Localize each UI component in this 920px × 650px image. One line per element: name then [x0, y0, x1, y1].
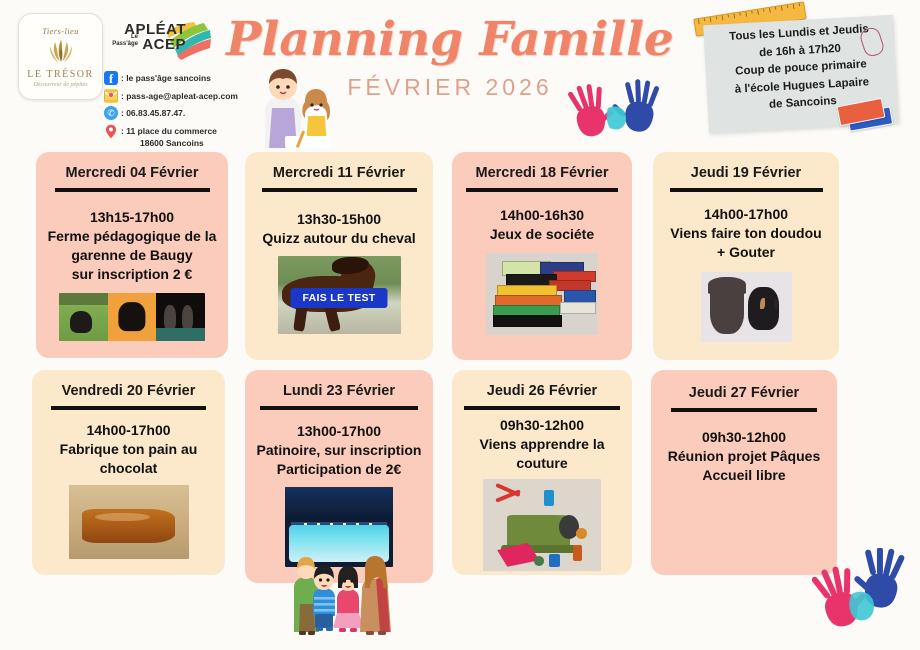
card-time: 13h30-15h00 [297, 211, 381, 227]
card-body: 13h15-17h00 Ferme pédagogique de la gare… [36, 208, 228, 284]
card-divider [466, 188, 618, 192]
card-divider [671, 408, 817, 412]
le-passage-wordmark: Le Pass'âge [102, 34, 138, 47]
contact-row-phone[interactable]: ✆ : 06.83.45.87.47. [104, 105, 238, 121]
contact-email-text: : pass-age@apleat-acep.com [121, 91, 238, 101]
apleat-acep-logo: APLÉAT ACEP Le Pass'âge [108, 8, 208, 66]
card-title: Mercredi 04 Février [36, 152, 228, 182]
card-time: 09h30-12h00 [500, 417, 584, 433]
card-time: 09h30-12h00 [702, 429, 786, 445]
card-description: Ferme pédagogique de la garenne de Baugy… [48, 228, 217, 282]
card-description: Jeux de sociéte [490, 226, 594, 242]
card-body: 14h00-17h00 Viens faire ton doudou + Gou… [653, 205, 839, 262]
card-title: Vendredi 20 Février [32, 370, 225, 400]
poster-header: Tiers-lieu LE TRÉSOR Découvreur de pépit… [0, 0, 920, 150]
card-divider [260, 406, 418, 410]
card-title: Jeudi 26 Février [452, 370, 632, 400]
card-divider [262, 188, 417, 192]
contact-row-facebook[interactable]: f : le pass'âge sancoins [104, 70, 238, 86]
event-card-jeudi-27-fevrier[interactable]: Jeudi 27 Février 09h30-12h00 Réunion pro… [651, 370, 837, 575]
contact-row-address: : 11 place du commerce [104, 123, 238, 139]
family-group-illustration-icon [290, 552, 398, 636]
contact-block: f : le pass'âge sancoins : pass-age@aple… [104, 70, 238, 148]
facebook-icon: f [104, 71, 118, 85]
event-card-vendredi-20-fevrier[interactable]: Vendredi 20 Février 14h00-17h00 Fabrique… [32, 370, 225, 575]
card-title: Lundi 23 Février [245, 370, 433, 400]
sewing-machine-photo [483, 479, 601, 571]
card-description: Viens faire ton doudou + Gouter [670, 225, 821, 260]
card-title: Mercredi 18 Février [452, 152, 632, 182]
contact-facebook-text: : le pass'âge sancoins [121, 73, 211, 83]
le-passage-line2: Pass'âge [102, 41, 138, 48]
board-games-photo [486, 253, 598, 335]
card-divider [55, 188, 210, 192]
handprints-icon [560, 78, 680, 150]
parent-child-drawing-illustration-icon [245, 60, 365, 150]
event-card-mercredi-11-fevrier[interactable]: Mercredi 11 Février 13h30-15h00 Quizz au… [245, 152, 433, 360]
flame-leaf-logo-icon [44, 37, 78, 67]
card-description: Viens apprendre la couture [479, 436, 604, 471]
card-body: 13h30-15h00 Quizz autour du cheval [245, 210, 433, 248]
event-card-jeudi-19-fevrier[interactable]: Jeudi 19 Février 14h00-17h00 Viens faire… [653, 152, 839, 360]
card-body: 09h30-12h00 Réunion projet Pâques Accuei… [651, 428, 837, 485]
email-icon [104, 89, 118, 103]
card-time: 14h00-17h00 [86, 422, 170, 438]
contact-address-text: : 11 place du commerce [121, 126, 217, 136]
card-time: 13h15-17h00 [90, 209, 174, 225]
handprints-icon [812, 548, 920, 648]
pain-au-chocolat-photo [69, 485, 189, 559]
contact-row-email[interactable]: : pass-age@apleat-acep.com [104, 88, 238, 104]
card-title: Jeudi 27 Février [651, 370, 837, 402]
farm-donkeys-photo [59, 293, 205, 341]
planning-poster: Tiers-lieu LE TRÉSOR Découvreur de pépit… [0, 0, 920, 650]
card-divider [670, 188, 823, 192]
card-body: 14h00-16h30 Jeux de sociéte [452, 206, 632, 244]
contact-phone-text: : 06.83.45.87.47. [121, 108, 185, 118]
event-card-mercredi-18-fevrier[interactable]: Mercredi 18 Février 14h00-16h30 Jeux de … [452, 152, 632, 360]
card-time: 13h00-17h00 [297, 423, 381, 439]
card-time: 14h00-17h00 [704, 206, 788, 222]
phone-icon: ✆ [104, 106, 118, 120]
card-description: Quizz autour du cheval [262, 230, 415, 246]
card-body: 13h00-17h00 Patinoire, sur inscription P… [245, 422, 433, 479]
event-card-jeudi-26-fevrier[interactable]: Jeudi 26 Février 09h30-12h00 Viens appre… [452, 370, 632, 575]
event-card-mercredi-04-fevrier[interactable]: Mercredi 04 Février 13h15-17h00 Ferme pé… [36, 152, 228, 358]
fais-le-test-button[interactable]: FAIS LE TEST [290, 288, 387, 308]
card-body: 14h00-17h00 Fabrique ton pain au chocola… [32, 421, 225, 478]
card-body: 09h30-12h00 Viens apprendre la couture [452, 416, 632, 473]
card-time: 14h00-16h30 [500, 207, 584, 223]
location-pin-icon [104, 124, 118, 138]
le-tresor-logo: Tiers-lieu LE TRÉSOR Découvreur de pépit… [18, 13, 103, 100]
card-title: Jeudi 19 Février [653, 152, 839, 182]
card-divider [51, 406, 206, 410]
card-divider [464, 406, 620, 410]
card-description: Fabrique ton pain au chocolat [60, 441, 198, 476]
le-tresor-tagline: Découvreur de pépites [33, 82, 87, 88]
le-tresor-name: LE TRÉSOR [27, 69, 93, 80]
le-tresor-top-line: Tiers-lieu [42, 26, 79, 36]
card-description: Patinoire, sur inscription Participation… [257, 442, 422, 477]
contact-address-text-line2: 18600 Sancoins [140, 138, 238, 148]
horse-photo: FAIS LE TEST [278, 256, 401, 334]
card-title: Mercredi 11 Février [245, 152, 433, 182]
card-description: Réunion projet Pâques Accueil libre [668, 448, 820, 483]
glove-bat-doudou-photo [701, 272, 792, 342]
